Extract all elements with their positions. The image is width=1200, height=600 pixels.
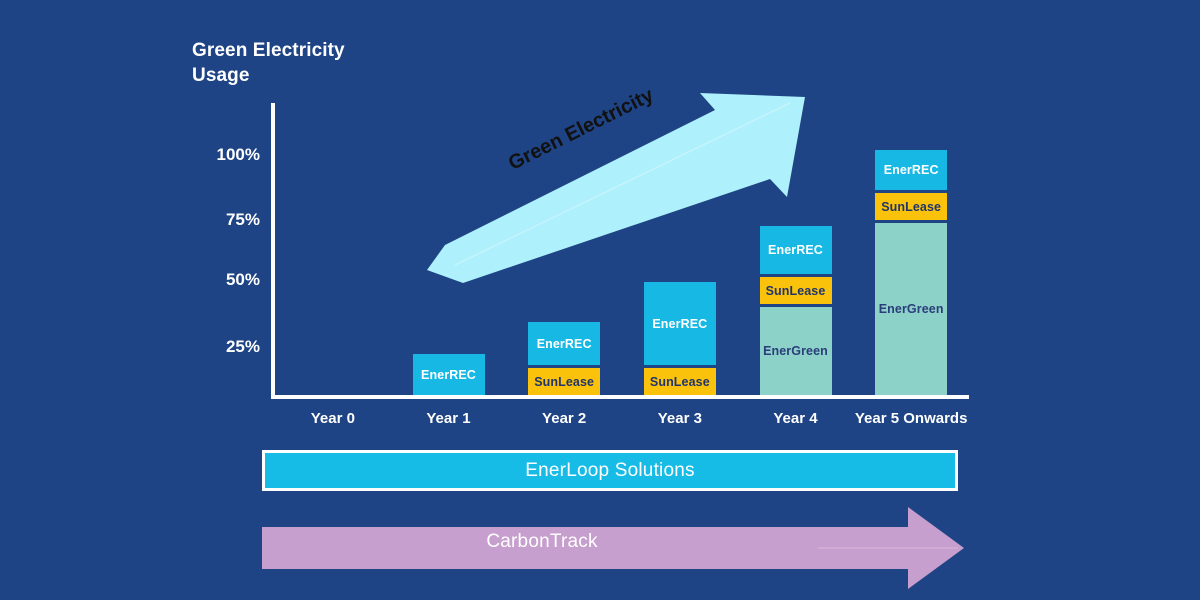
bar-segment-enerrec[interactable]: EnerREC xyxy=(528,322,600,365)
x-axis-tick-year-3: Year 3 xyxy=(622,410,738,427)
bar-segment-label: SunLease xyxy=(534,375,594,389)
slide-canvas: Green Electricity Usage 100%75%50%25% Gr… xyxy=(0,0,1200,600)
bar-segment-sunlease[interactable]: SunLease xyxy=(875,193,947,220)
bar-segment-label: EnerGreen xyxy=(763,344,828,358)
bar-segment-label: EnerREC xyxy=(768,243,823,257)
y-axis-tick-25pct: 25% xyxy=(140,337,260,357)
y-axis-tick-50pct: 50% xyxy=(140,270,260,290)
x-axis-tick-year-0: Year 0 xyxy=(275,410,391,427)
bar-segment-sunlease[interactable]: SunLease xyxy=(528,368,600,395)
bar-segment-label: EnerREC xyxy=(537,337,592,351)
bar-segment-label: EnerREC xyxy=(884,163,939,177)
bar-group-year-4[interactable]: EnerGreenSunLeaseEnerREC xyxy=(760,103,832,395)
bar-segment-sunlease[interactable]: SunLease xyxy=(760,277,832,304)
bar-group-year-2[interactable]: SunLeaseEnerREC xyxy=(528,103,600,395)
bar-segment-enerrec[interactable]: EnerREC xyxy=(760,226,832,274)
bar-segment-label: EnerREC xyxy=(652,317,707,331)
bar-segment-label: EnerREC xyxy=(421,368,476,382)
bar-group-year-1[interactable]: EnerREC xyxy=(413,103,485,395)
x-axis-tick-year-1: Year 1 xyxy=(391,410,507,427)
x-axis-tick-year-4: Year 4 xyxy=(738,410,854,427)
bar-segment-enerrec[interactable]: EnerREC xyxy=(875,150,947,190)
bar-segment-sunlease[interactable]: SunLease xyxy=(644,368,716,395)
y-axis-ticks: 100%75%50%25% xyxy=(140,0,260,600)
bar-segment-label: SunLease xyxy=(881,200,941,214)
bar-group-year-3[interactable]: SunLeaseEnerREC xyxy=(644,103,716,395)
x-axis-tick-year-2: Year 2 xyxy=(506,410,622,427)
bar-group-year-5-onwards[interactable]: EnerGreenSunLeaseEnerREC xyxy=(875,103,947,395)
enerloop-solutions-band[interactable]: EnerLoop Solutions xyxy=(262,450,958,491)
y-axis-tick-100pct: 100% xyxy=(140,145,260,165)
bar-segment-label: SunLease xyxy=(766,284,826,298)
plot-area: EnerRECSunLeaseEnerRECSunLeaseEnerRECEne… xyxy=(275,103,969,395)
x-axis-line xyxy=(271,395,969,399)
bar-segment-enerrec[interactable]: EnerREC xyxy=(413,354,485,395)
bar-group-year-0[interactable] xyxy=(297,103,369,395)
y-axis-tick-75pct: 75% xyxy=(140,210,260,230)
x-axis-labels: Year 0Year 1Year 2Year 3Year 4Year 5 Onw… xyxy=(0,410,1200,436)
carbontrack-arrow-icon[interactable] xyxy=(258,505,968,591)
x-axis-tick-year-5-onwards: Year 5 Onwards xyxy=(853,410,969,427)
bar-segment-enerrec[interactable]: EnerREC xyxy=(644,282,716,365)
bar-segment-label: EnerGreen xyxy=(879,302,944,316)
bar-segment-label: SunLease xyxy=(650,375,710,389)
bar-segment-energreen[interactable]: EnerGreen xyxy=(875,223,947,395)
bar-segment-energreen[interactable]: EnerGreen xyxy=(760,307,832,395)
